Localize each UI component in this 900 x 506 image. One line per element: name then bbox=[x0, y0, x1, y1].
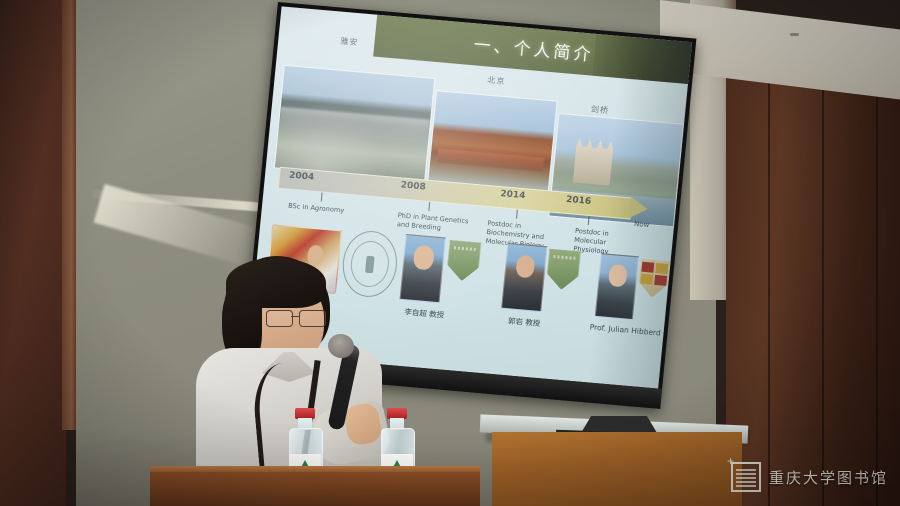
professor-guo-photo bbox=[501, 243, 547, 312]
china-agricultural-university-shield-icon-2 bbox=[545, 249, 581, 292]
timeline-year-2016: 2016 bbox=[566, 195, 592, 207]
watermark-text: 重庆大学图书馆 bbox=[769, 467, 888, 488]
timeline-arrow-icon bbox=[629, 196, 649, 219]
timeline-now-label: Now bbox=[634, 220, 650, 229]
watermark: + 重庆大学图书馆 bbox=[731, 462, 888, 492]
mentor-name-guo: 郭岩 教授 bbox=[507, 315, 540, 329]
ceiling-fixture-icon bbox=[790, 33, 799, 36]
timeline-year-2014: 2014 bbox=[500, 189, 526, 201]
china-agricultural-university-shield-icon bbox=[446, 240, 482, 283]
city-label-yaan: 雅安 bbox=[340, 36, 359, 49]
timeline-year-2008: 2008 bbox=[400, 180, 426, 192]
timeline-year-2004: 2004 bbox=[289, 171, 315, 183]
cambridge-university-crest-icon bbox=[637, 259, 671, 299]
timeline-caption-bsc: BSc in Agronomy bbox=[288, 202, 371, 218]
yaan-photo bbox=[274, 65, 436, 182]
left-wood-panel bbox=[0, 0, 66, 506]
professor-li-photo bbox=[400, 234, 446, 303]
mentor-name-li: 李自超 教授 bbox=[404, 306, 445, 320]
right-wood-panel bbox=[726, 36, 900, 506]
wooden-podium bbox=[492, 432, 742, 506]
library-logo-icon: + bbox=[731, 462, 761, 492]
mentor-name-hibberd: Prof. Julian Hibberd bbox=[589, 322, 661, 337]
lecture-photo-scene: 一、个人简介 雅安 北京 剑桥 2004 2008 2014 2016 Now bbox=[0, 0, 900, 506]
professor-hibberd-photo bbox=[595, 253, 639, 320]
table-front bbox=[150, 472, 480, 506]
glasses-icon bbox=[266, 310, 328, 326]
